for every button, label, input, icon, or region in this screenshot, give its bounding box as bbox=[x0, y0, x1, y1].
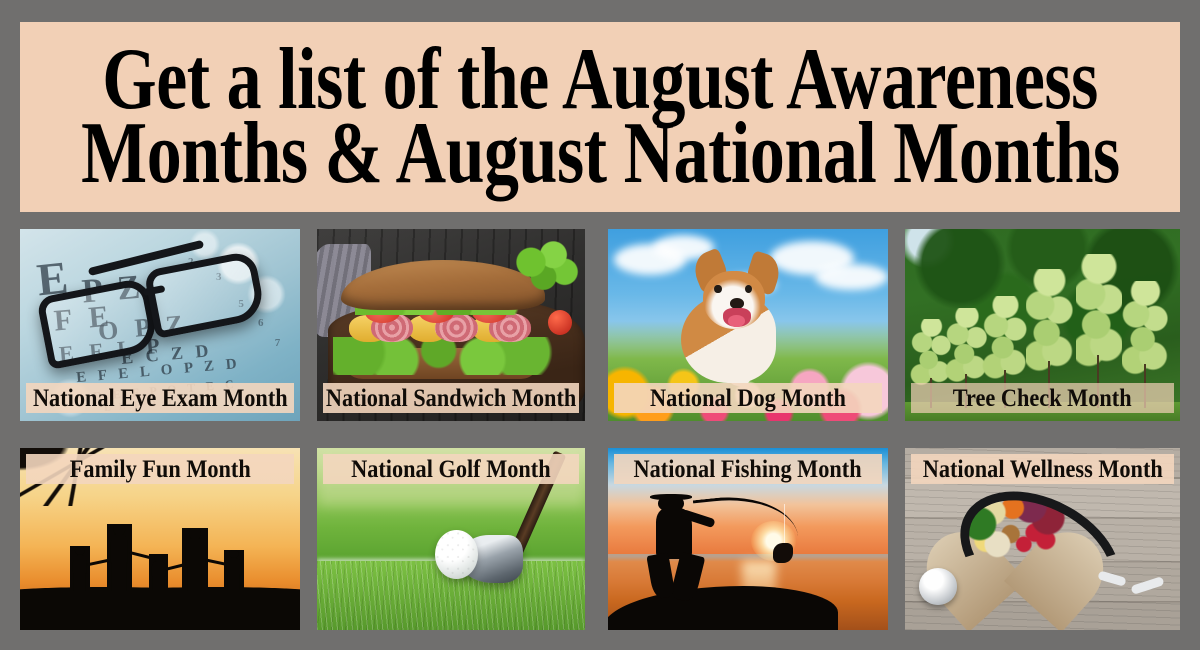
card-label-band: National Fishing Month bbox=[614, 454, 882, 484]
fisherman-hat bbox=[650, 494, 692, 500]
card-label-band: National Wellness Month bbox=[911, 454, 1174, 484]
card-label-text: Family Fun Month bbox=[70, 454, 251, 483]
dog-eye bbox=[714, 285, 721, 293]
golf-ball bbox=[435, 530, 478, 579]
card-label-text: National Fishing Month bbox=[634, 454, 862, 483]
poster-root: Get a list of the August Awareness Month… bbox=[0, 0, 1200, 650]
month-card-grid: E P Z F E O P Z E F L P E C Z D E F E L … bbox=[0, 0, 1200, 650]
lettuce-bottom bbox=[333, 337, 553, 375]
card-label-text: Tree Check Month bbox=[953, 383, 1132, 412]
dog-tongue bbox=[728, 315, 745, 327]
card-label-band: National Sandwich Month bbox=[323, 383, 579, 413]
lettuce-leaf-large bbox=[510, 241, 580, 295]
card-fishing[interactable]: National Fishing Month bbox=[608, 448, 888, 630]
card-label-text: National Golf Month bbox=[351, 454, 551, 483]
caught-fish bbox=[773, 543, 793, 563]
cherry-tomato bbox=[548, 310, 572, 335]
stethoscope-chestpiece bbox=[919, 568, 958, 604]
card-eye-exam[interactable]: E P Z F E O P Z E F L P E C Z D E F E L … bbox=[20, 229, 300, 421]
child-silhouette bbox=[149, 554, 169, 590]
adult-silhouette bbox=[107, 524, 132, 590]
card-label-text: National Dog Month bbox=[650, 383, 846, 412]
cloud bbox=[815, 264, 888, 291]
child-silhouette bbox=[70, 546, 90, 590]
card-label-band: National Dog Month bbox=[614, 383, 882, 413]
adult-silhouette bbox=[182, 528, 207, 590]
child-silhouette bbox=[224, 550, 244, 590]
card-golf[interactable]: National Golf Month bbox=[317, 448, 585, 630]
ground-silhouette bbox=[20, 590, 300, 630]
card-wellness[interactable]: National Wellness Month bbox=[905, 448, 1180, 630]
card-label-band: National Golf Month bbox=[323, 454, 579, 484]
card-label-text: National Eye Exam Month bbox=[33, 383, 288, 412]
golf-ball-dimples bbox=[435, 530, 478, 579]
card-tree-check[interactable]: Tree Check Month bbox=[905, 229, 1180, 421]
card-family-fun[interactable]: Family Fun Month bbox=[20, 448, 300, 630]
card-label-text: National Sandwich Month bbox=[326, 383, 576, 412]
card-label-band: Family Fun Month bbox=[26, 454, 294, 484]
card-label-band: Tree Check Month bbox=[911, 383, 1174, 413]
dog-paw bbox=[698, 356, 723, 377]
fishing-line bbox=[784, 504, 785, 548]
card-dog[interactable]: National Dog Month bbox=[608, 229, 888, 421]
card-label-band: National Eye Exam Month bbox=[26, 383, 294, 413]
card-label-text: National Wellness Month bbox=[922, 454, 1162, 483]
card-sandwich[interactable]: National Sandwich Month bbox=[317, 229, 585, 421]
